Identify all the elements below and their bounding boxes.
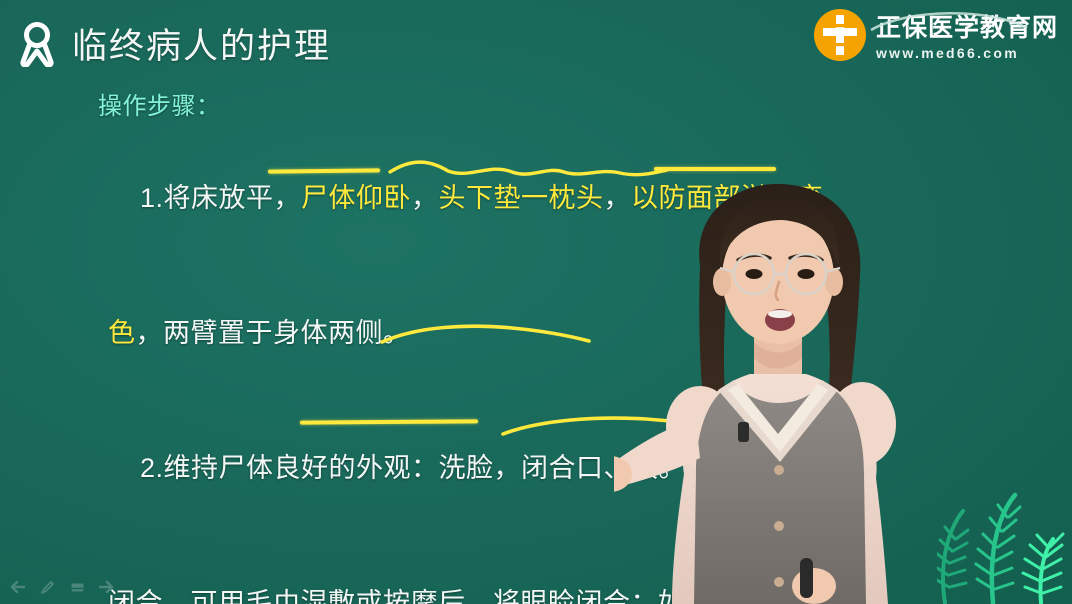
paragraph-step-1-cont: 色，两臂置于身体两侧。 xyxy=(60,266,1010,401)
next-page-button[interactable] xyxy=(98,578,116,596)
brand-name: 正保医学教育网 xyxy=(876,16,1058,41)
content-heading: 操作步骤： xyxy=(60,84,1010,129)
run-text: 闭合，可用毛巾湿敷或按摩后，将眼睑闭合；如不能闭口，可 xyxy=(108,588,851,604)
annotation-toolbar[interactable] xyxy=(8,578,116,596)
run-highlight: 头下垫一枕头 xyxy=(439,183,604,213)
paragraph-step-1: 1.将床放平，尸体仰卧，头下垫一枕头，以防面部淤血变 xyxy=(60,131,1010,266)
run-highlight: 尸体仰卧 xyxy=(301,183,411,213)
slide-header: 临终病人的护理 正保医学教育网 www.med66.com xyxy=(0,0,1072,80)
run-text: ，两臂置于身体两侧。 xyxy=(136,318,411,348)
run-text: ， xyxy=(411,183,439,213)
arrow-left-icon xyxy=(9,580,25,594)
brand-text: 正保医学教育网 www.med66.com xyxy=(876,16,1058,60)
arrow-right-icon xyxy=(99,580,115,594)
eraser-icon xyxy=(70,581,85,594)
eraser-tool-button[interactable] xyxy=(68,578,86,596)
run-text: 2.维持尸体良好的外观：洗脸，闭合口、眼。如眼睑不能 xyxy=(108,453,824,483)
paragraph-step-2-cont-1: 闭合，可用毛巾湿敷或按摩后，将眼睑闭合；如不能闭口，可 xyxy=(60,536,1010,604)
orange-cross-circle-icon xyxy=(813,8,867,67)
run-highlight: 以防 xyxy=(631,183,686,213)
run-text: 1.将床放平， xyxy=(108,183,301,213)
run-highlight: 色 xyxy=(108,318,136,348)
page-title: 临终病人的护理 xyxy=(72,18,331,69)
pen-tool-button[interactable] xyxy=(38,578,56,596)
brand-logo: 正保医学教育网 www.med66.com xyxy=(813,8,1058,67)
title-group: 临终病人的护理 xyxy=(18,18,331,69)
slide-body: 操作步骤： 1.将床放平，尸体仰卧，头下垫一枕头，以防面部淤血变 色，两臂置于身… xyxy=(60,84,1010,604)
run-text: ， xyxy=(604,183,632,213)
brand-url: www.med66.com xyxy=(876,46,1058,60)
underline-mianbu-yuxue xyxy=(654,167,776,171)
paragraph-step-2: 2.维持尸体良好的外观：洗脸，闭合口、眼。如眼睑不能 xyxy=(60,401,1010,536)
slide-canvas: 临终病人的护理 正保医学教育网 www.med66.com 操作步骤： xyxy=(0,0,1072,604)
ribbon-person-icon xyxy=(18,21,56,67)
run-highlight: 面部淤血变 xyxy=(686,183,824,213)
previous-page-button[interactable] xyxy=(8,578,26,596)
pen-icon xyxy=(40,580,55,595)
